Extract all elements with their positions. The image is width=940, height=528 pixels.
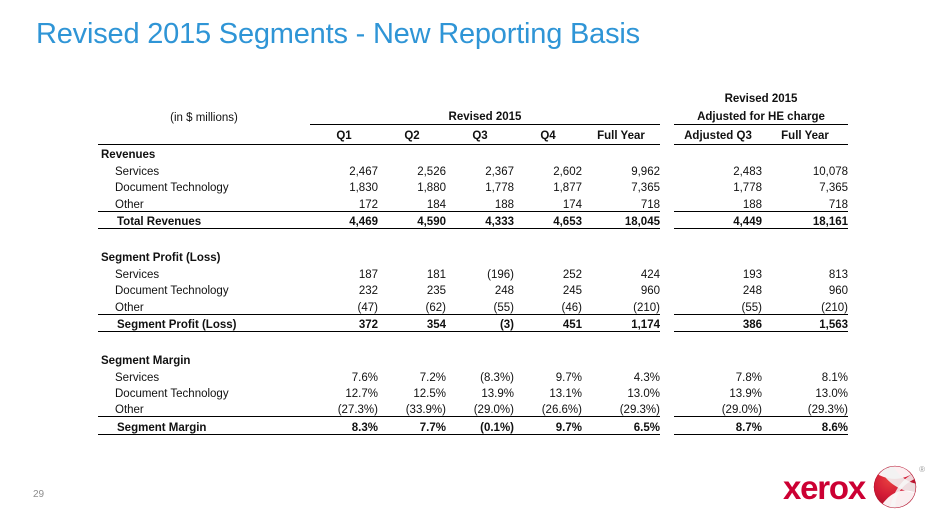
cell: (47) bbox=[310, 297, 378, 314]
total-cell: 4,333 bbox=[446, 211, 514, 228]
table-total-row: Segment Margin 8.3% 7.7% (0.1%) 9.7% 6.5… bbox=[98, 417, 848, 434]
cell: 13.0% bbox=[762, 384, 848, 400]
column-header-adjusted-q3: Adjusted Q3 bbox=[674, 125, 762, 145]
table-row: Services 2,467 2,526 2,367 2,602 9,962 2… bbox=[98, 161, 848, 177]
cell: 1,830 bbox=[310, 178, 378, 194]
xerox-wordmark: xerox bbox=[783, 471, 865, 504]
total-cell: 8.3% bbox=[310, 417, 378, 434]
cell: 1,880 bbox=[378, 178, 446, 194]
cell: 13.1% bbox=[514, 384, 582, 400]
cell: 2,467 bbox=[310, 161, 378, 177]
column-header-q1: Q1 bbox=[310, 125, 378, 145]
total-cell: 4,449 bbox=[674, 211, 762, 228]
cell: (26.6%) bbox=[514, 400, 582, 417]
total-cell: (0.1%) bbox=[446, 417, 514, 434]
row-label: Other bbox=[98, 297, 310, 314]
table-row: Services 7.6% 7.2% (8.3%) 9.7% 4.3% 7.8%… bbox=[98, 367, 848, 383]
cell: 172 bbox=[310, 194, 378, 211]
segments-financial-table: Revised 2015 (in $ millions) Revised 201… bbox=[98, 88, 848, 435]
total-cell: 4,653 bbox=[514, 211, 582, 228]
cell: (210) bbox=[762, 297, 848, 314]
cell: 181 bbox=[378, 264, 446, 280]
total-cell: 9.7% bbox=[514, 417, 582, 434]
cell: 1,778 bbox=[446, 178, 514, 194]
cell: (62) bbox=[378, 297, 446, 314]
total-cell: 18,045 bbox=[582, 211, 660, 228]
total-label: Segment Margin bbox=[98, 417, 310, 434]
header-spacer-left bbox=[310, 88, 660, 106]
section-title-segment-margin: Segment Margin bbox=[98, 351, 310, 367]
total-cell: 4,469 bbox=[310, 211, 378, 228]
section-title-revenues: Revenues bbox=[98, 145, 310, 162]
group-gap bbox=[660, 106, 674, 125]
cell: (29.0%) bbox=[446, 400, 514, 417]
cell: 13.9% bbox=[446, 384, 514, 400]
cell: 174 bbox=[514, 194, 582, 211]
cell: 9,962 bbox=[582, 161, 660, 177]
row-label: Services bbox=[98, 161, 310, 177]
total-cell: 451 bbox=[514, 314, 582, 331]
cell: 248 bbox=[446, 281, 514, 297]
cell: (29.3%) bbox=[762, 400, 848, 417]
cell: 248 bbox=[674, 281, 762, 297]
row-label: Document Technology bbox=[98, 178, 310, 194]
financial-table-container: Revised 2015 (in $ millions) Revised 201… bbox=[98, 88, 830, 435]
column-header-adjusted-full-year: Full Year bbox=[762, 125, 848, 145]
cell: 960 bbox=[582, 281, 660, 297]
table-row: Document Technology 1,830 1,880 1,778 1,… bbox=[98, 178, 848, 194]
column-header-full-year: Full Year bbox=[582, 125, 660, 145]
cell: 960 bbox=[762, 281, 848, 297]
total-label: Total Revenues bbox=[98, 211, 310, 228]
table-total-row: Total Revenues 4,469 4,590 4,333 4,653 1… bbox=[98, 211, 848, 228]
cell: (33.9%) bbox=[378, 400, 446, 417]
row-label: Document Technology bbox=[98, 384, 310, 400]
total-cell: 372 bbox=[310, 314, 378, 331]
total-label: Segment Profit (Loss) bbox=[98, 314, 310, 331]
right-group-title-line1: Revised 2015 bbox=[674, 88, 848, 106]
column-header-q2: Q2 bbox=[378, 125, 446, 145]
cell: 245 bbox=[514, 281, 582, 297]
cell: 12.7% bbox=[310, 384, 378, 400]
cell: (29.0%) bbox=[674, 400, 762, 417]
row-label: Document Technology bbox=[98, 281, 310, 297]
table-row: Other 172 184 188 174 718 188 718 bbox=[98, 194, 848, 211]
cell: 232 bbox=[310, 281, 378, 297]
cell: 188 bbox=[674, 194, 762, 211]
section-title-row: Segment Margin bbox=[98, 351, 848, 367]
unit-note: (in $ millions) bbox=[98, 106, 310, 125]
cell: 2,483 bbox=[674, 161, 762, 177]
header-spacer-gap bbox=[660, 88, 674, 106]
cell: 2,602 bbox=[514, 161, 582, 177]
cell: (55) bbox=[446, 297, 514, 314]
cell: 7.8% bbox=[674, 367, 762, 383]
cell: (27.3%) bbox=[310, 400, 378, 417]
right-group-title-line2: Adjusted for HE charge bbox=[674, 106, 848, 125]
total-cell: 4,590 bbox=[378, 211, 446, 228]
table-row: Document Technology 12.7% 12.5% 13.9% 13… bbox=[98, 384, 848, 400]
registered-trademark-icon: ® bbox=[919, 465, 925, 474]
row-label: Other bbox=[98, 400, 310, 417]
cell: 718 bbox=[762, 194, 848, 211]
table-row: Services 187 181 (196) 252 424 193 813 bbox=[98, 264, 848, 280]
column-header-q4: Q4 bbox=[514, 125, 582, 145]
table-header-row-columns: Q1 Q2 Q3 Q4 Full Year Adjusted Q3 Full Y… bbox=[98, 125, 848, 145]
cell: 12.5% bbox=[378, 384, 446, 400]
xerox-sphere-icon bbox=[872, 464, 918, 510]
total-cell: 6.5% bbox=[582, 417, 660, 434]
cell: 1,778 bbox=[674, 178, 762, 194]
total-cell: 8.7% bbox=[674, 417, 762, 434]
table-row: Other (27.3%) (33.9%) (29.0%) (26.6%) (2… bbox=[98, 400, 848, 417]
table-header-row-top: Revised 2015 bbox=[98, 88, 848, 106]
cell: 7,365 bbox=[762, 178, 848, 194]
cell: 813 bbox=[762, 264, 848, 280]
cell: 188 bbox=[446, 194, 514, 211]
table-header-row-groups: (in $ millions) Revised 2015 Adjusted fo… bbox=[98, 106, 848, 125]
cell: (8.3%) bbox=[446, 367, 514, 383]
total-cell: 18,161 bbox=[762, 211, 848, 228]
column-header-gap bbox=[660, 125, 674, 145]
cell: 9.7% bbox=[514, 367, 582, 383]
total-cell: 7.7% bbox=[378, 417, 446, 434]
cell: 424 bbox=[582, 264, 660, 280]
cell: 13.9% bbox=[674, 384, 762, 400]
left-group-title: Revised 2015 bbox=[310, 106, 660, 125]
cell: 2,526 bbox=[378, 161, 446, 177]
table-row: Document Technology 232 235 248 245 960 … bbox=[98, 281, 848, 297]
section-spacer bbox=[98, 331, 848, 351]
page-title: Revised 2015 Segments - New Reporting Ba… bbox=[36, 18, 640, 51]
cell: 7.6% bbox=[310, 367, 378, 383]
cell: (55) bbox=[674, 297, 762, 314]
section-spacer bbox=[98, 228, 848, 248]
cell: 718 bbox=[582, 194, 660, 211]
cell: 193 bbox=[674, 264, 762, 280]
total-cell: 354 bbox=[378, 314, 446, 331]
xerox-logo: xerox ® bbox=[783, 464, 918, 510]
section-title-row: Revenues bbox=[98, 145, 848, 162]
cell: 13.0% bbox=[582, 384, 660, 400]
cell: 7.2% bbox=[378, 367, 446, 383]
header-spacer-label bbox=[98, 88, 310, 106]
row-label: Services bbox=[98, 264, 310, 280]
cell: 235 bbox=[378, 281, 446, 297]
column-header-q3: Q3 bbox=[446, 125, 514, 145]
table-total-row: Segment Profit (Loss) 372 354 (3) 451 1,… bbox=[98, 314, 848, 331]
row-label: Services bbox=[98, 367, 310, 383]
cell: 252 bbox=[514, 264, 582, 280]
cell: 184 bbox=[378, 194, 446, 211]
total-cell: 1,174 bbox=[582, 314, 660, 331]
total-cell: 386 bbox=[674, 314, 762, 331]
cell: 10,078 bbox=[762, 161, 848, 177]
cell: 187 bbox=[310, 264, 378, 280]
page-number: 29 bbox=[33, 489, 44, 500]
cell: 4.3% bbox=[582, 367, 660, 383]
total-cell: 1,563 bbox=[762, 314, 848, 331]
cell: 7,365 bbox=[582, 178, 660, 194]
cell: (196) bbox=[446, 264, 514, 280]
total-cell: 8.6% bbox=[762, 417, 848, 434]
cell: 2,367 bbox=[446, 161, 514, 177]
cell: (29.3%) bbox=[582, 400, 660, 417]
cell: 1,877 bbox=[514, 178, 582, 194]
column-header-label-blank bbox=[98, 125, 310, 145]
table-row: Other (47) (62) (55) (46) (210) (55) (21… bbox=[98, 297, 848, 314]
total-cell: (3) bbox=[446, 314, 514, 331]
row-label: Other bbox=[98, 194, 310, 211]
section-title-segment-profit: Segment Profit (Loss) bbox=[98, 248, 310, 264]
xerox-sphere-mark: ® bbox=[872, 464, 918, 510]
section-title-row: Segment Profit (Loss) bbox=[98, 248, 848, 264]
cell: 8.1% bbox=[762, 367, 848, 383]
cell: (46) bbox=[514, 297, 582, 314]
cell: (210) bbox=[582, 297, 660, 314]
